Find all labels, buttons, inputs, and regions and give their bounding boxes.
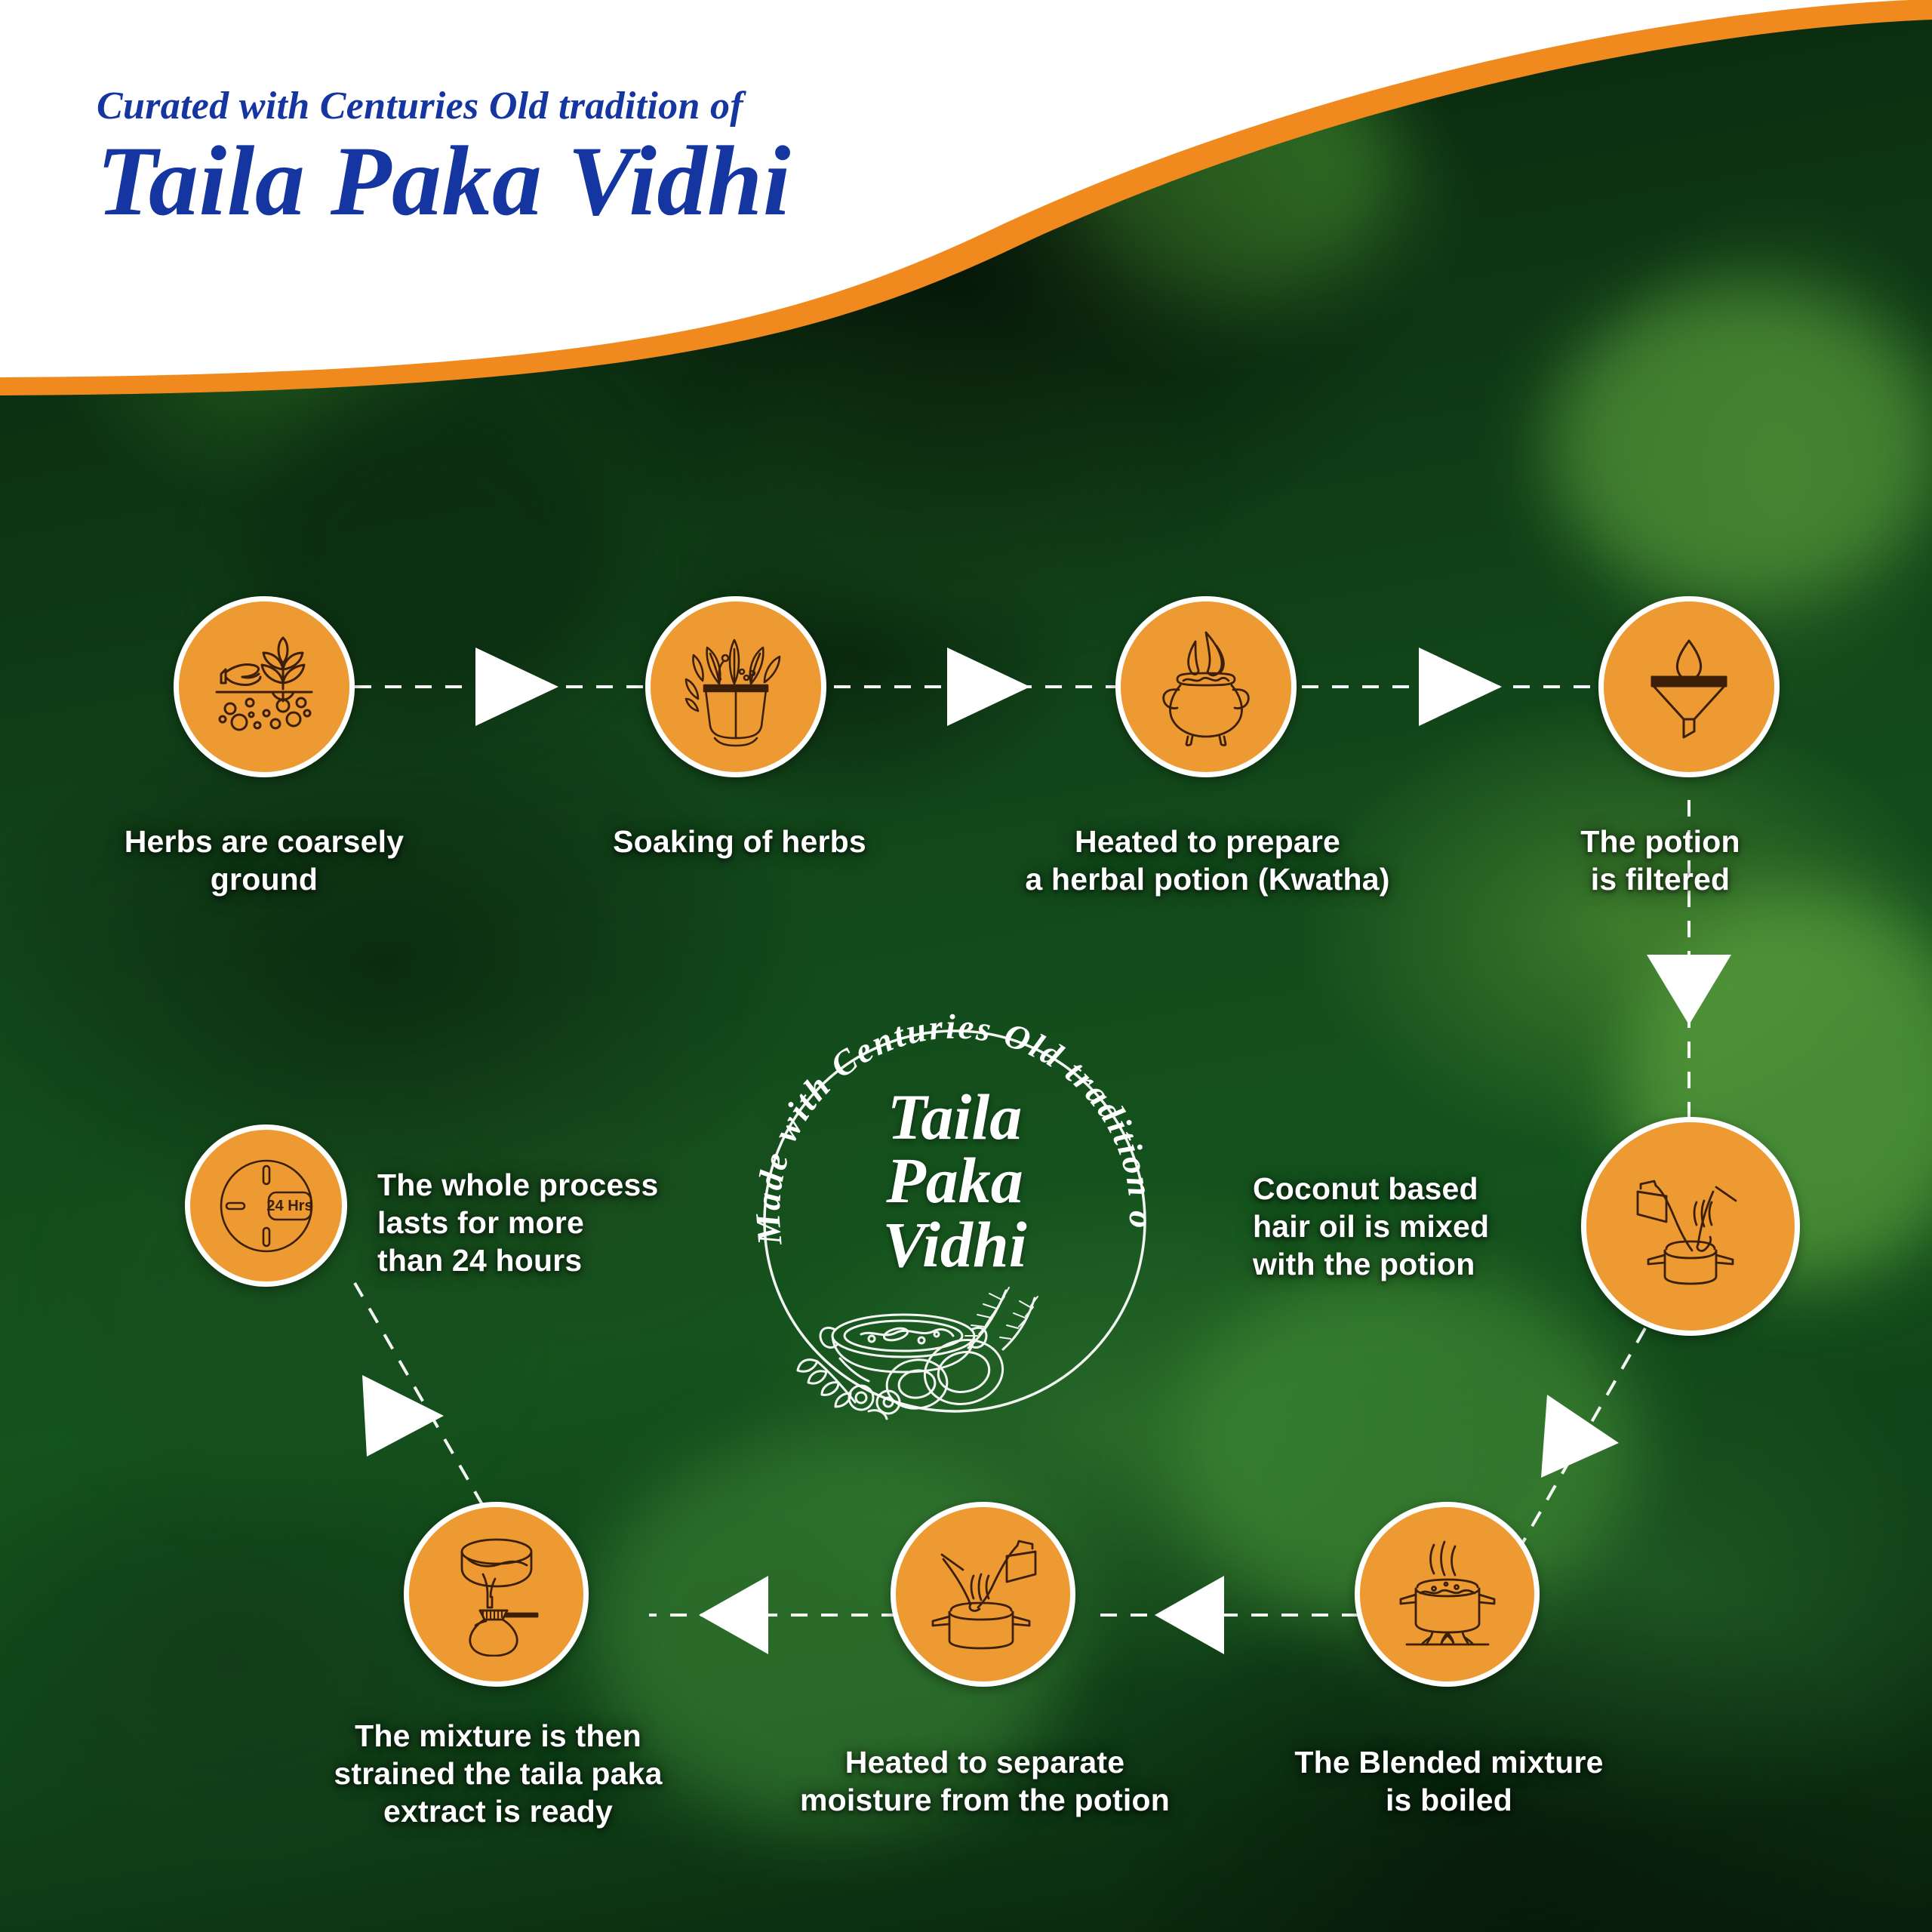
step-2-label: Soaking of herbs [551,823,928,860]
step-8-label: The mixture is then strained the taila p… [294,1717,702,1830]
boiling-pot-on-flame-icon [1387,1534,1508,1655]
step-3[interactable] [1115,596,1297,777]
step-5[interactable] [1581,1117,1800,1336]
step-4-label: The potion is filtered [1502,823,1819,898]
step-6-circle[interactable] [1355,1502,1540,1687]
step-2-circle[interactable] [645,596,826,777]
header-text-block: Curated with Centuries Old tradition of … [97,85,1229,232]
step-1[interactable] [174,596,355,777]
step-2[interactable] [645,596,826,777]
step-3-label: Heated to prepare a herbal potion (Kwath… [1011,823,1404,898]
clock-24hrs-icon: 24 Hrs [210,1149,323,1263]
step-9-label: The whole process lasts for more than 24… [377,1166,732,1279]
header-kicker: Curated with Centuries Old tradition of [97,85,1229,128]
step-7-circle[interactable] [891,1502,1075,1687]
seal-title-line-1: Taila [728,1085,1181,1149]
step-3-circle[interactable] [1115,596,1297,777]
step-9-circle[interactable]: 24 Hrs [185,1124,347,1287]
step-1-circle[interactable] [174,596,355,777]
step-4-circle[interactable] [1598,596,1780,777]
mortar-with-herbs-icon [675,626,796,747]
step-4[interactable] [1598,596,1780,777]
seal-illustration [798,1287,1038,1419]
header-panel: Curated with Centuries Old tradition of … [0,0,1932,423]
step-8-circle[interactable] [404,1502,589,1687]
seal-title: Taila Paka Vidhi [728,1085,1181,1276]
step-6[interactable] [1355,1502,1540,1687]
step-9[interactable]: 24 Hrs [185,1124,347,1287]
clock-badge-text: 24 Hrs [266,1198,312,1214]
cauldron-with-flame-icon [1146,626,1266,747]
hand-soil-sprout-icon [208,630,321,743]
page-title: Taila Paka Vidhi [97,131,1229,232]
seal-title-line-2: Paka [728,1149,1181,1212]
step-7-label: Heated to separate moisture from the pot… [770,1743,1200,1819]
infographic-canvas: Curated with Centuries Old tradition of … [0,0,1932,1932]
strainer-pouring-pot-icon [436,1532,557,1657]
step-5-circle[interactable] [1581,1117,1800,1336]
step-8[interactable] [404,1502,589,1687]
pot-pouring-oil-icon [1623,1158,1758,1294]
step-7[interactable] [891,1502,1075,1687]
step-6-label: The Blended mixture is boiled [1253,1743,1645,1819]
funnel-filter-icon [1632,630,1746,743]
seal-title-line-3: Vidhi [728,1213,1181,1276]
step-5-label: Coconut based hair oil is mixed with the… [1253,1170,1570,1283]
center-seal: Made with Centuries Old tradition of [728,995,1181,1447]
step-1-label: Herbs are coarsely ground [75,823,453,898]
pot-steam-ladle-jug-icon [921,1532,1045,1657]
